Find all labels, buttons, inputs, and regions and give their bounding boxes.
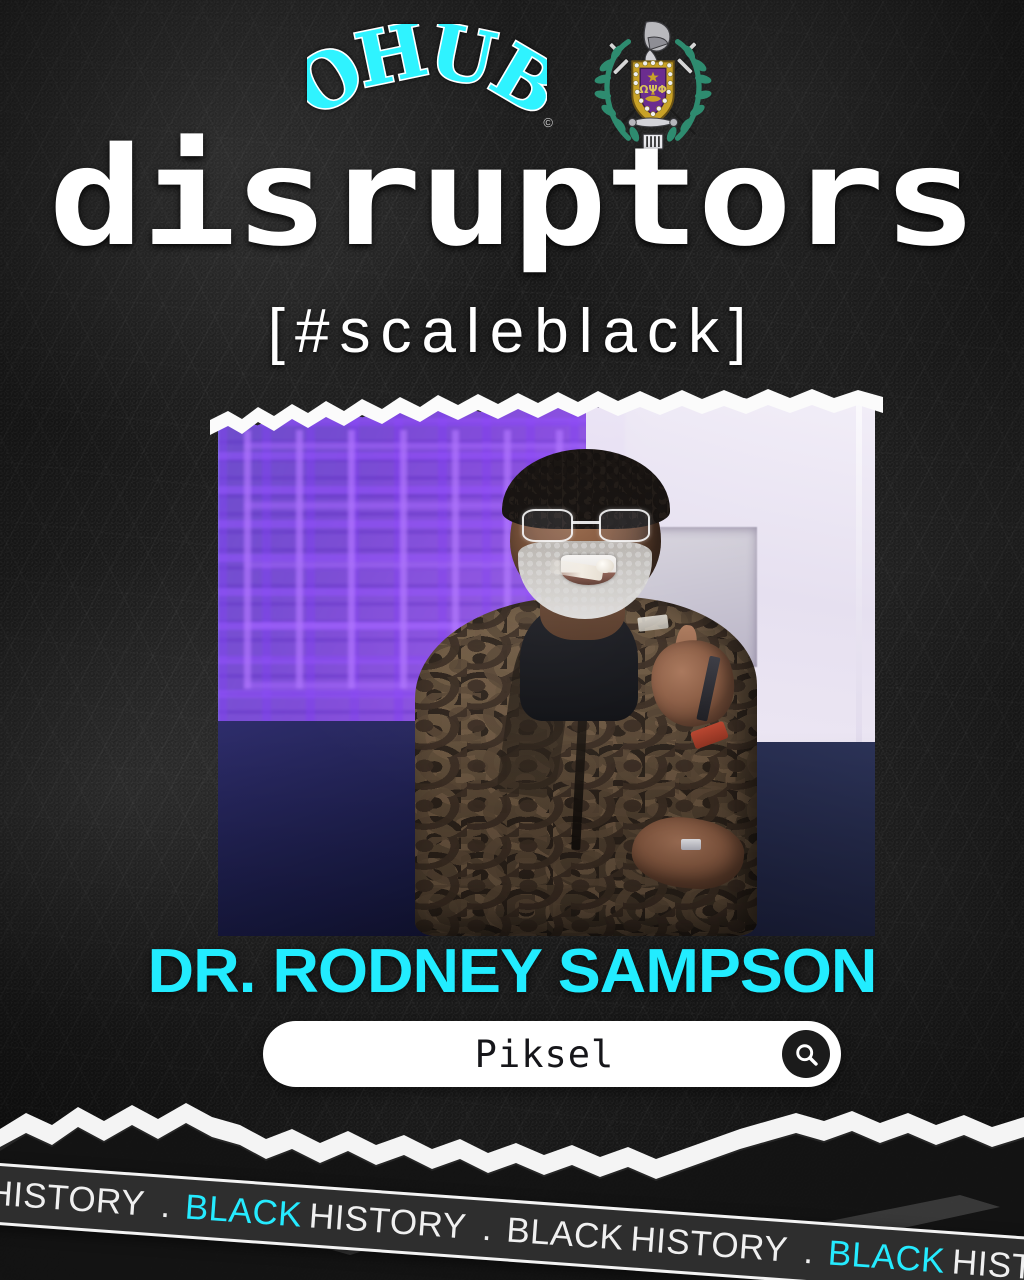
ticker-separator: .: [481, 1209, 494, 1250]
ticker-segment: BLACK: [505, 1210, 625, 1258]
search-icon: [793, 1041, 820, 1068]
glasses-right-lens: [599, 509, 651, 542]
ohub-logo[interactable]: O H U B ©: [307, 24, 547, 134]
ticker-separator: .: [159, 1186, 172, 1227]
subject-ring: [681, 839, 701, 850]
glasses-bridge: [572, 521, 600, 523]
ticker-separator: .: [802, 1232, 815, 1273]
search-button[interactable]: [782, 1030, 830, 1078]
crest-greek-letters: ΩΨΦ: [639, 83, 667, 96]
search-bar[interactable]: Piksel: [263, 1021, 841, 1087]
ticker-segment: HISTORY: [951, 1242, 1024, 1280]
ticker-segment: HISTORY: [629, 1219, 789, 1270]
ticker-segment: HISTORY: [308, 1196, 468, 1247]
subject-headset-mic-tip: [596, 559, 613, 573]
search-input[interactable]: Piksel: [263, 1033, 782, 1076]
subject-glasses: [522, 509, 651, 542]
glasses-left-lens: [522, 509, 574, 542]
speaker-name: DR. RODNEY SAMPSON: [0, 936, 1024, 1007]
page-subtitle: [#scaleblack]: [0, 296, 1024, 367]
photo-frame: [218, 398, 875, 936]
photo-subject: [218, 398, 875, 936]
page-title: disruptors: [0, 140, 1024, 257]
speaker-photo: [218, 398, 875, 936]
ticker-segment: CK HISTORY: [0, 1169, 146, 1224]
poster-canvas: O H U B ©: [0, 0, 1024, 1280]
ticker-segment: BLACK: [827, 1234, 947, 1280]
ticker-segment: BLACK: [184, 1187, 304, 1235]
